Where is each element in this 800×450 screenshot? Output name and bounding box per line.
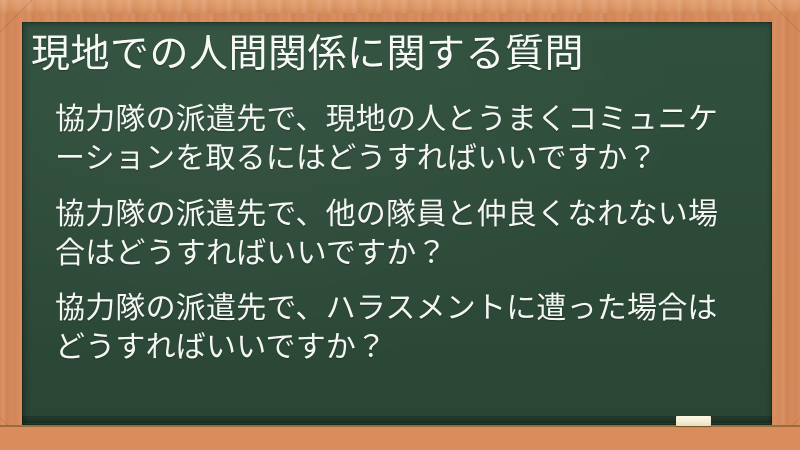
question-list: 協力隊の派遣先で、現地の人とうまくコミュニケーションを取るにはどうすればいいです… (55, 100, 743, 368)
chalkboard-slide: 現地での人間関係に関する質問 協力隊の派遣先で、現地の人とうまくコミュニケーショ… (0, 0, 800, 450)
chalk-tray (0, 427, 800, 450)
chalk-stick-icon (676, 416, 711, 426)
chalk-dust-band (22, 416, 772, 423)
question-item: 協力隊の派遣先で、他の隊員と仲良くなれない場合はどうすればいいですか？ (55, 195, 743, 274)
chalkboard-surface: 現地での人間関係に関する質問 協力隊の派遣先で、現地の人とうまくコミュニケーショ… (22, 22, 772, 425)
board-title: 現地での人間関係に関する質問 (31, 32, 761, 78)
question-item: 協力隊の派遣先で、ハラスメントに遭った場合はどうすればいいですか？ (55, 289, 743, 368)
question-item: 協力隊の派遣先で、現地の人とうまくコミュニケーションを取るにはどうすればいいです… (55, 100, 743, 179)
